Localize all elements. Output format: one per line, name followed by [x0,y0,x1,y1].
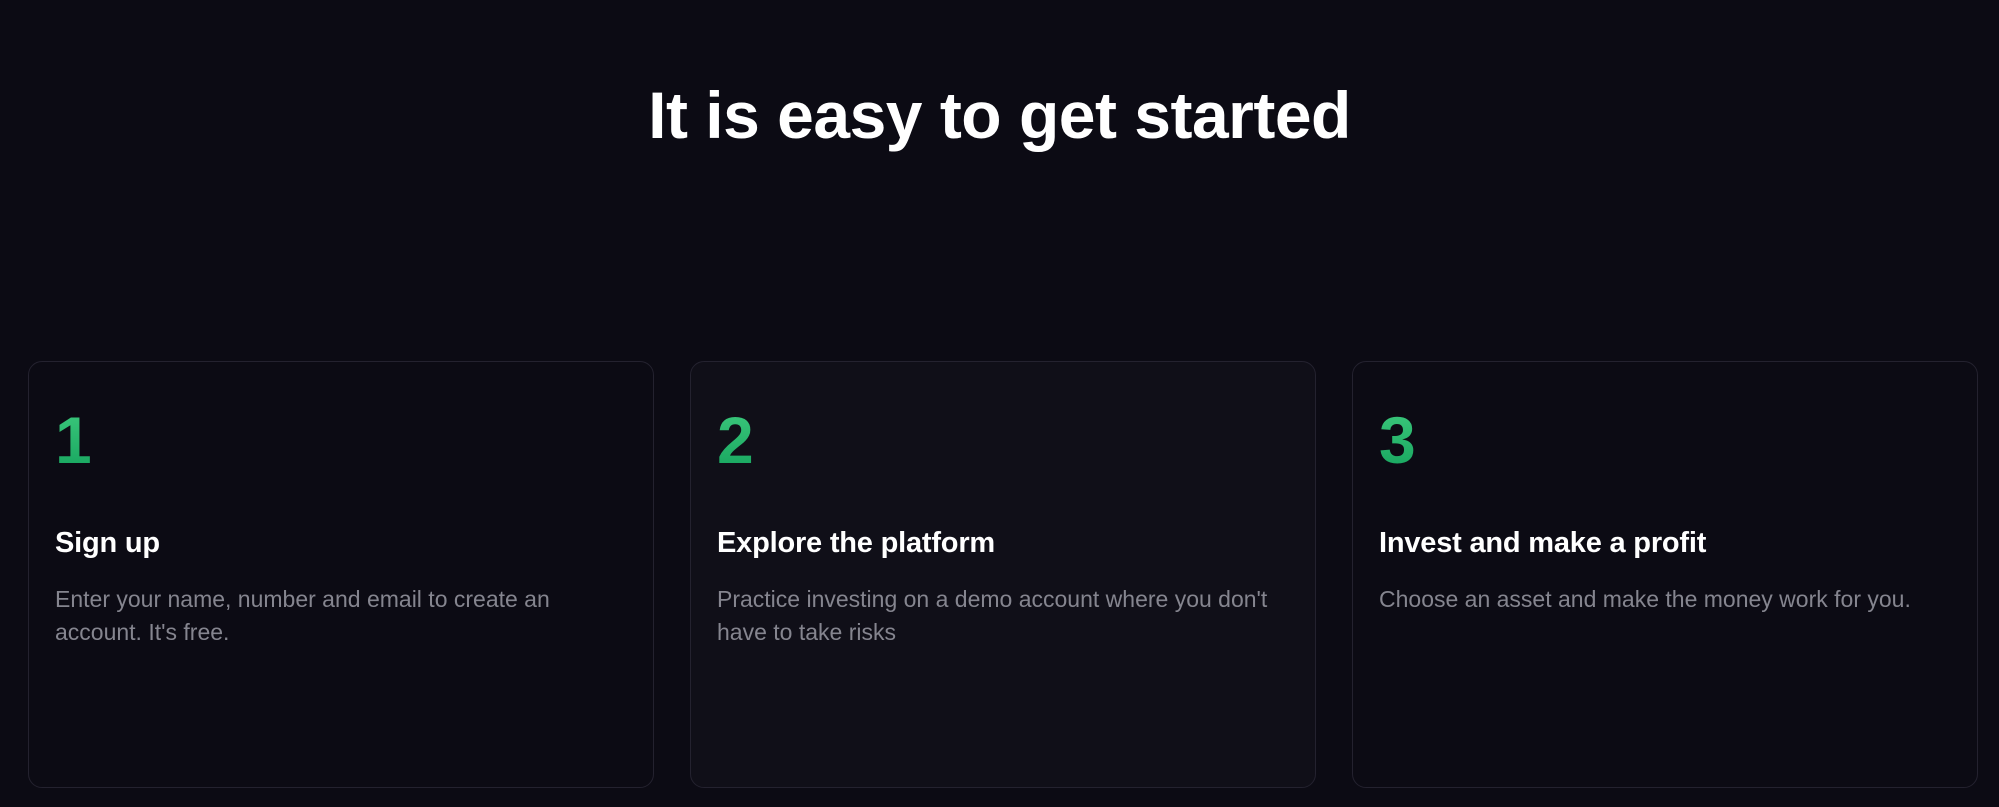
step-title-3: Invest and make a profit [1379,526,1951,560]
step-description-2: Practice investing on a demo account whe… [717,583,1289,649]
steps-card-list: 1 Sign up Enter your name, number and em… [28,361,1978,788]
step-card-3[interactable]: 3 Invest and make a profit Choose an ass… [1352,361,1978,788]
step-card-2[interactable]: 2 Explore the platform Practice investin… [690,361,1316,788]
step-title-2: Explore the platform [717,526,1289,560]
step-description-1: Enter your name, number and email to cre… [55,583,627,649]
step-description-3: Choose an asset and make the money work … [1379,583,1951,616]
page-title: It is easy to get started [0,72,1999,158]
step-number-1: 1 [55,406,91,474]
get-started-section: It is easy to get started 1 Sign up Ente… [0,0,1999,807]
step-number-3: 3 [1379,406,1415,474]
step-title-1: Sign up [55,526,627,560]
step-card-1[interactable]: 1 Sign up Enter your name, number and em… [28,361,654,788]
step-number-2: 2 [717,406,753,474]
